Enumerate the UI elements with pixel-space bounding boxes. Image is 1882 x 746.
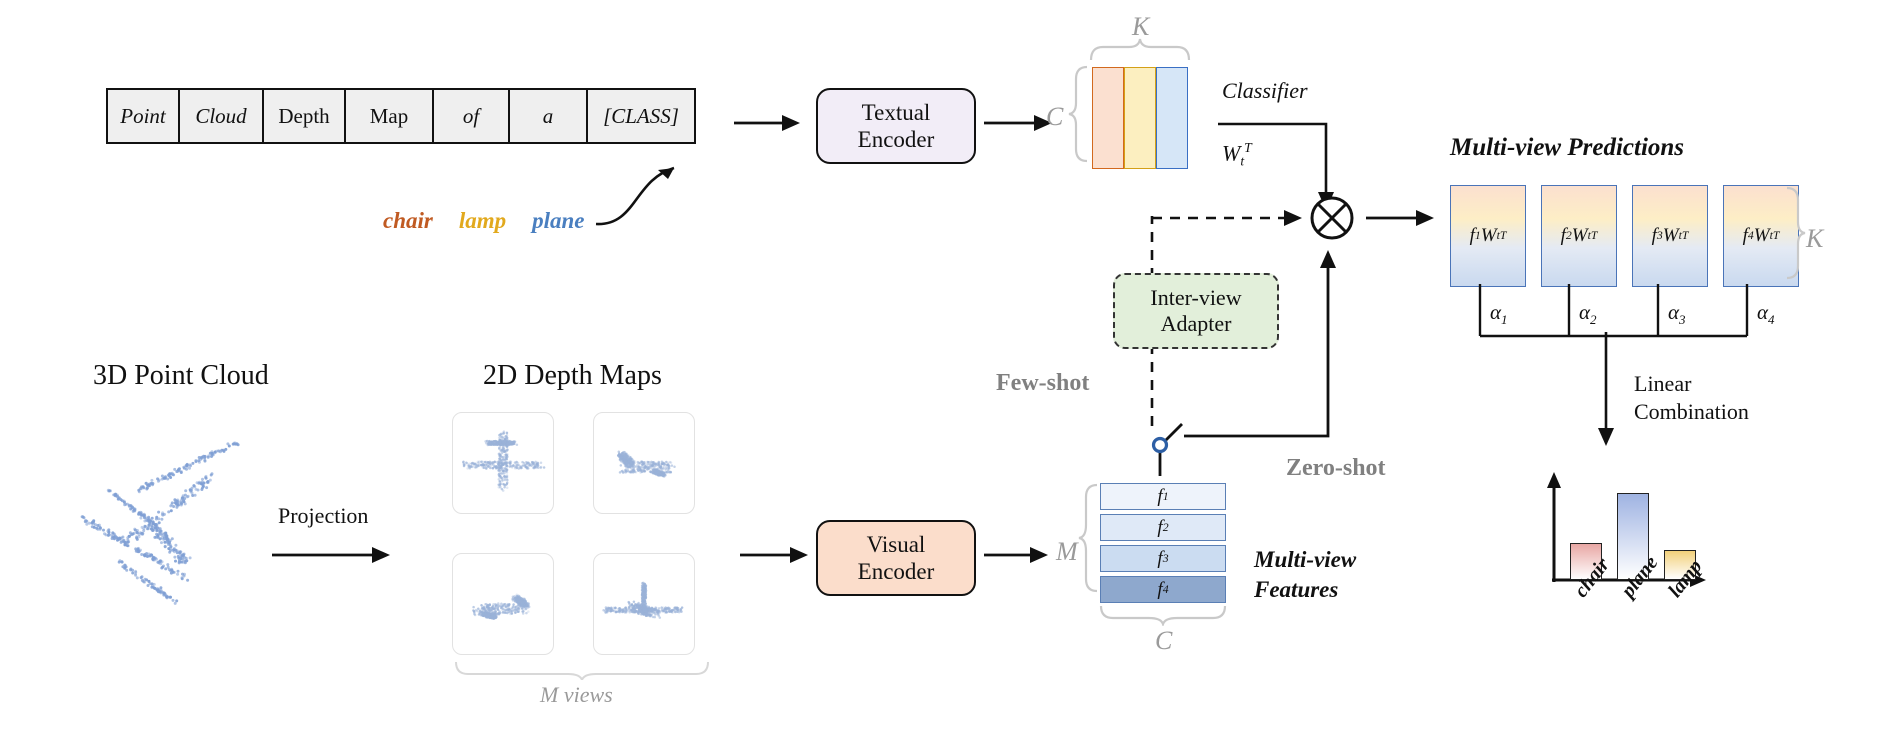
few-shot-label: Few-shot: [996, 370, 1089, 397]
classifier-column-0: [1092, 67, 1124, 169]
arrow-features-to-operator: [1180, 232, 1356, 444]
arrow-linear-combination: [1592, 332, 1622, 448]
prompt-token-1: Cloud: [180, 90, 264, 142]
feature-bar-4: f4: [1100, 576, 1226, 603]
prompt-token-row: PointCloudDepthMapofa[CLASS]: [106, 88, 696, 144]
arrow-projection: [272, 540, 398, 570]
classifier-left-brace: [1068, 64, 1090, 172]
alpha-label-4: α4: [1757, 300, 1775, 328]
features-bottom-brace: [1098, 604, 1228, 626]
class-word-list: chairlampplane: [383, 208, 585, 234]
multi-view-predictions-title: Multi-view Predictions: [1450, 134, 1684, 162]
classifier-column-1: [1124, 67, 1156, 169]
arrow-visual-encoder-to-features: [984, 540, 1056, 570]
alpha-label-2: α2: [1579, 300, 1597, 328]
m-views-brace: [452, 660, 722, 680]
dashed-line-adapter-up: [1144, 200, 1162, 280]
arrow-prompt-to-textual-encoder: [734, 108, 806, 138]
class-word-lamp: lamp: [459, 208, 506, 234]
prompt-token-6: [CLASS]: [588, 90, 694, 142]
alpha-label-3: α3: [1668, 300, 1686, 328]
prediction-box-1: f1WtT: [1450, 185, 1526, 287]
textual-encoder-line2: Encoder: [858, 127, 935, 152]
prompt-token-5: a: [510, 90, 588, 142]
prompt-token-3: Map: [346, 90, 434, 142]
class-to-token-arrow: [590, 150, 710, 240]
prompt-token-2: Depth: [264, 90, 346, 142]
depth-map-card-top-view: [452, 412, 554, 514]
classifier-caption: Classifier: [1222, 78, 1308, 104]
features-C-label: C: [1155, 626, 1172, 656]
depth-map-points: [453, 413, 553, 513]
classifier-C-label: C: [1046, 102, 1063, 132]
multi-view-feature-stack: f1f2f3f4: [1100, 483, 1226, 607]
prompt-token-4: of: [434, 90, 510, 142]
classifier-top-brace: [1088, 38, 1192, 62]
point-cloud-visual: [60, 430, 290, 620]
prediction-box-3: f3WtT: [1632, 185, 1708, 287]
feature-bar-2: f2: [1100, 514, 1226, 541]
depth-map-card-side-view-right: [452, 553, 554, 655]
arrow-depthmaps-to-visual-encoder: [740, 540, 816, 570]
features-M-label: M: [1056, 537, 1078, 567]
depth-map-points: [594, 554, 694, 654]
classifier-column-2: [1156, 67, 1188, 169]
feature-bar-3: f3: [1100, 545, 1226, 572]
prompt-token-0: Point: [108, 90, 180, 142]
multi-view-features-caption: Multi-view Features: [1254, 545, 1356, 605]
prediction-box-2: f2WtT: [1541, 185, 1617, 287]
zero-shot-label: Zero-shot: [1286, 455, 1386, 482]
prediction-box-row: f1WtTf2WtTf3WtTf4WtT: [1450, 185, 1799, 287]
depth-map-card-front-view: [593, 553, 695, 655]
depth-map-points: [453, 554, 553, 654]
textual-encoder-box: Textual Encoder: [816, 88, 976, 164]
predictions-right-brace: [1784, 186, 1806, 290]
depth-map-card-side-view-left: [593, 412, 695, 514]
feature-bar-1: f1: [1100, 483, 1226, 510]
depth-map-points: [594, 413, 694, 513]
class-word-chair: chair: [383, 208, 433, 234]
textual-encoder-line1: Textual: [862, 100, 931, 125]
linear-combination-label: Linear Combination: [1634, 370, 1749, 425]
class-word-plane: plane: [532, 208, 584, 234]
m-views-label: M views: [540, 682, 613, 708]
arrow-operator-to-predictions: [1366, 203, 1442, 233]
depth-map-grid: [452, 412, 722, 662]
visual-encoder-line2: Encoder: [858, 559, 935, 584]
alpha-label-1: α1: [1490, 300, 1508, 328]
point-cloud-title: 3D Point Cloud: [93, 360, 269, 392]
classifier-matrix: [1092, 67, 1188, 169]
visual-encoder-box: Visual Encoder: [816, 520, 976, 596]
depth-maps-title: 2D Depth Maps: [483, 360, 662, 392]
predictions-K-label: K: [1806, 224, 1823, 254]
projection-label: Projection: [278, 503, 368, 529]
prediction-bar-chart: chairplanelamp: [1540, 470, 1710, 580]
chart-bar-group: [1562, 470, 1702, 580]
features-left-brace: [1078, 482, 1100, 606]
visual-encoder-line1: Visual: [867, 532, 926, 557]
